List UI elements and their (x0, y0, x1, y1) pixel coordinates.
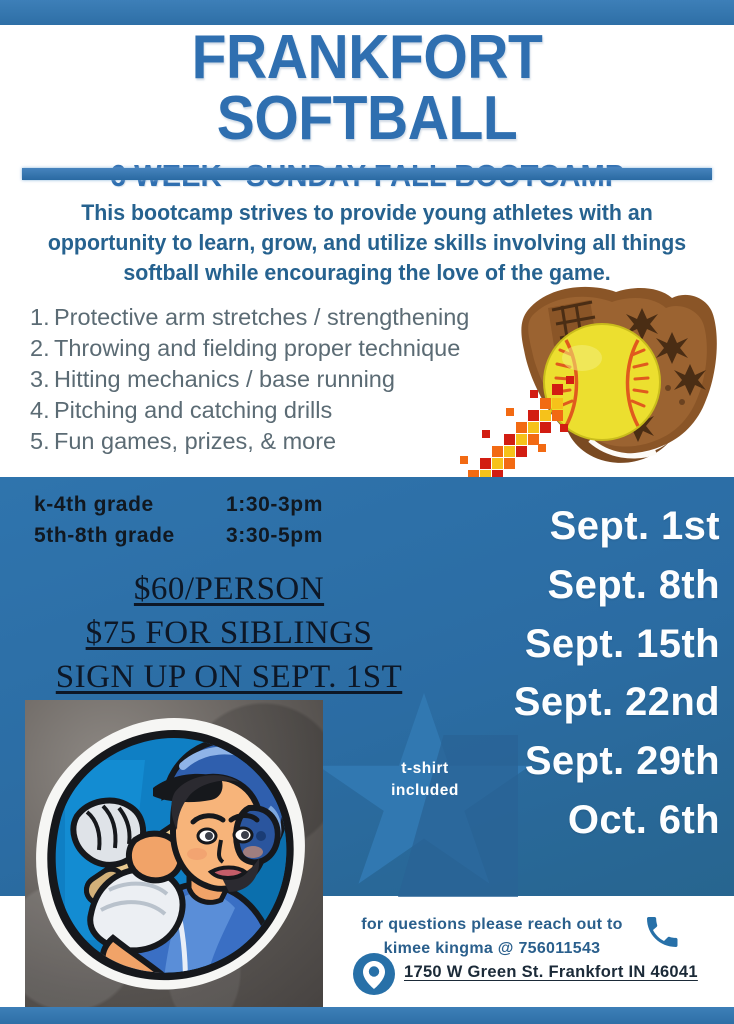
header-divider-rule (22, 168, 712, 180)
list-item: Throwing and fielding proper technique (30, 333, 560, 364)
contact-line-1: for questions please reach out to (352, 913, 632, 937)
price-per-person: $60/PERSON (14, 568, 444, 612)
intro-paragraph: This bootcamp strives to provide young a… (23, 198, 712, 288)
pricing-block: $60/PERSON $75 FOR SIBLINGS SIGN UP ON S… (14, 568, 444, 700)
activities-list: Protective arm stretches / strengthening… (30, 302, 560, 457)
time-label: 3:30-5pm (226, 524, 366, 548)
table-row: 5th-8th grade 3:30-5pm (34, 524, 366, 548)
flyer-page: FRANKFORT SOFTBALL 6 WEEK –SUNDAY FALL B… (0, 0, 734, 1024)
grade-label: k-4th grade (34, 493, 226, 517)
signup-notice: SIGN UP ON SEPT. 1ST (14, 656, 444, 700)
date-item: Sept. 8th (455, 556, 720, 615)
grade-label: 5th-8th grade (34, 524, 226, 548)
price-siblings: $75 FOR SIBLINGS (14, 612, 444, 656)
tshirt-line-2: included (350, 780, 500, 802)
page-title: FRANKFORT SOFTBALL (29, 28, 704, 150)
list-item: Pitching and catching drills (30, 395, 560, 426)
top-blue-band (0, 0, 734, 25)
table-row: k-4th grade 1:30-3pm (34, 493, 366, 517)
location-pin-icon (352, 952, 396, 996)
time-label: 1:30-3pm (226, 493, 366, 517)
date-item: Sept. 22nd (455, 673, 720, 732)
list-item: Hitting mechanics / base running (30, 364, 560, 395)
player-photo (25, 700, 323, 1008)
tshirt-note: t-shirt included (350, 758, 500, 803)
list-item: Fun games, prizes, & more (30, 426, 560, 457)
date-item: Sept. 1st (455, 497, 720, 556)
schedule-table: k-4th grade 1:30-3pm 5th-8th grade 3:30-… (34, 493, 366, 555)
bottom-blue-band (0, 1007, 734, 1024)
tshirt-line-1: t-shirt (350, 758, 500, 780)
date-item: Sept. 15th (455, 615, 720, 674)
list-item: Protective arm stretches / strengthening (30, 302, 560, 333)
address-text: 1750 W Green St. Frankfort IN 46041 (404, 963, 698, 982)
phone-icon (642, 912, 682, 952)
